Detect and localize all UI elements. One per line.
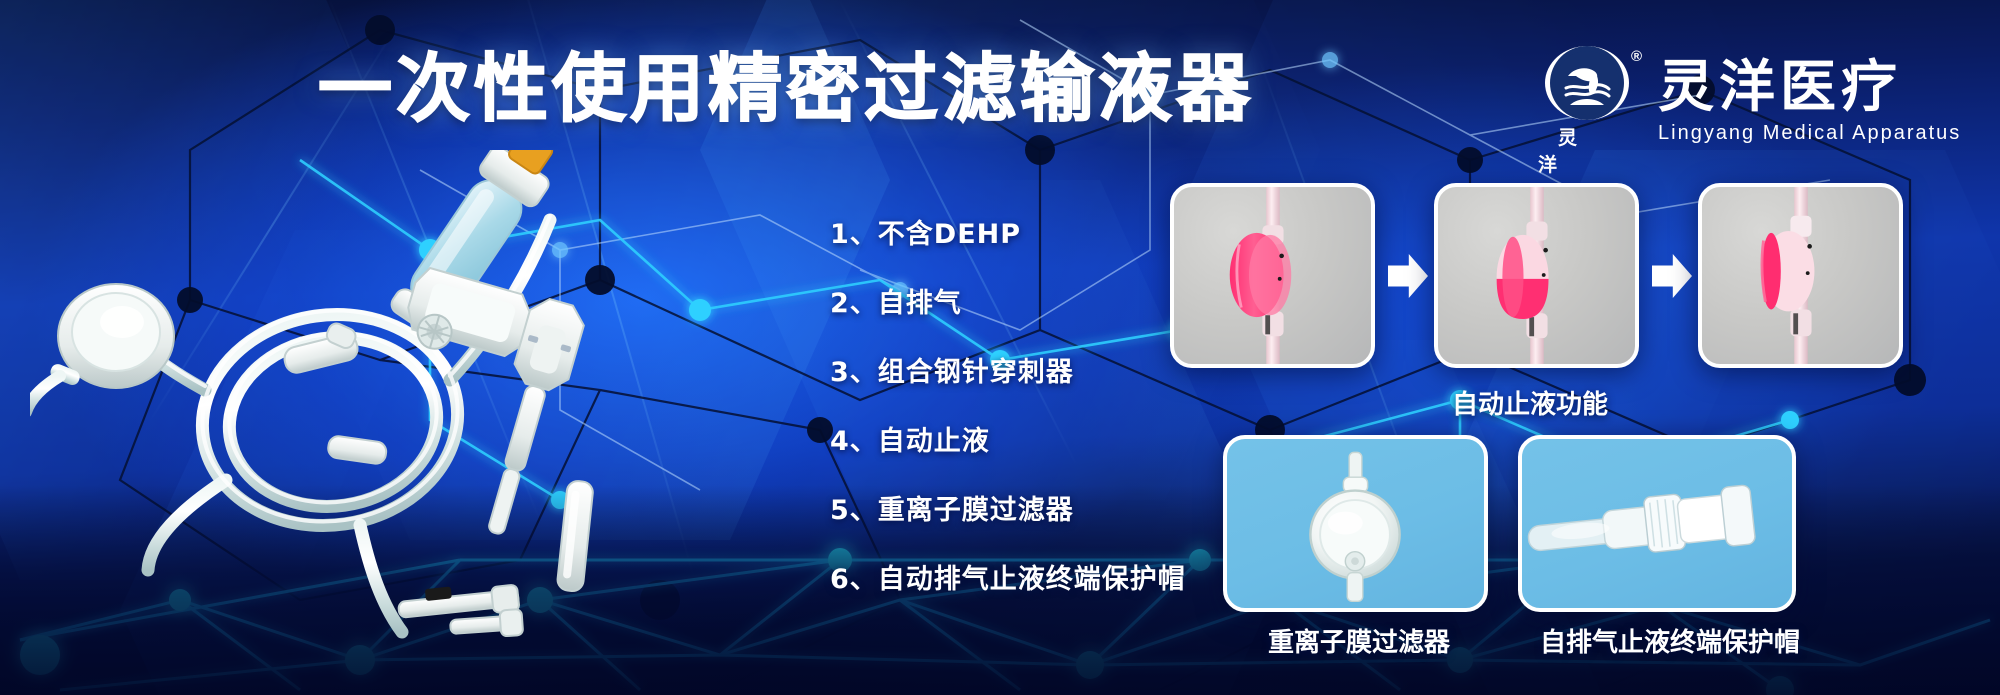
photo-ion-membrane-filter: [1223, 435, 1488, 612]
caption-auto-vent-protector-cap: 自排气止液终端保护帽: [1540, 622, 1800, 659]
company-name-cn: 灵洋医疗: [1658, 59, 1961, 118]
feature-item-5: 5、重离子膜过滤器: [830, 488, 1186, 527]
logo-wave-icon: [1550, 46, 1624, 120]
product-banner: 一次性使用精密过滤输液器 ® 灵 洋 灵洋医疗: [0, 0, 2000, 695]
product-photo-infusion-set: [30, 150, 860, 670]
photo-auto-vent-protector-cap: [1518, 435, 1796, 612]
logo-circle-mark: ®: [1545, 46, 1629, 120]
logo-wordmark: 灵洋医疗 Lingyang Medical Apparatus: [1658, 59, 1961, 145]
logo-badge: ® 灵 洋: [1538, 46, 1636, 158]
feature-item-1: 1、不含DEHP: [830, 212, 1186, 251]
page-title: 一次性使用精密过滤输液器: [318, 52, 1254, 126]
photo-auto-stop-step-2: [1434, 183, 1639, 368]
photo-auto-stop-step-3: [1698, 183, 1903, 368]
feature-item-4: 4、自动止液: [830, 419, 1186, 458]
photo-auto-stop-step-1: [1170, 183, 1375, 368]
registered-trademark-icon: ®: [1631, 48, 1642, 65]
brand-logo: ® 灵 洋 灵洋医疗 Lingyang Medical Apparatus: [1538, 46, 1961, 158]
caption-auto-stop-function: 自动止液功能: [1452, 384, 1608, 421]
company-name-en: Lingyang Medical Apparatus: [1658, 122, 1961, 145]
feature-item-2: 2、自排气: [830, 281, 1186, 320]
feature-list: 1、不含DEHP 2、自排气 3、组合钢针穿刺器 4、自动止液 5、重离子膜过滤…: [830, 212, 1186, 596]
feature-item-6: 6、自动排气止液终端保护帽: [830, 557, 1186, 596]
logo-mark-subtitle: 灵 洋: [1538, 123, 1636, 177]
feature-item-3: 3、组合钢针穿刺器: [830, 350, 1186, 389]
caption-ion-membrane-filter: 重离子膜过滤器: [1268, 622, 1450, 659]
